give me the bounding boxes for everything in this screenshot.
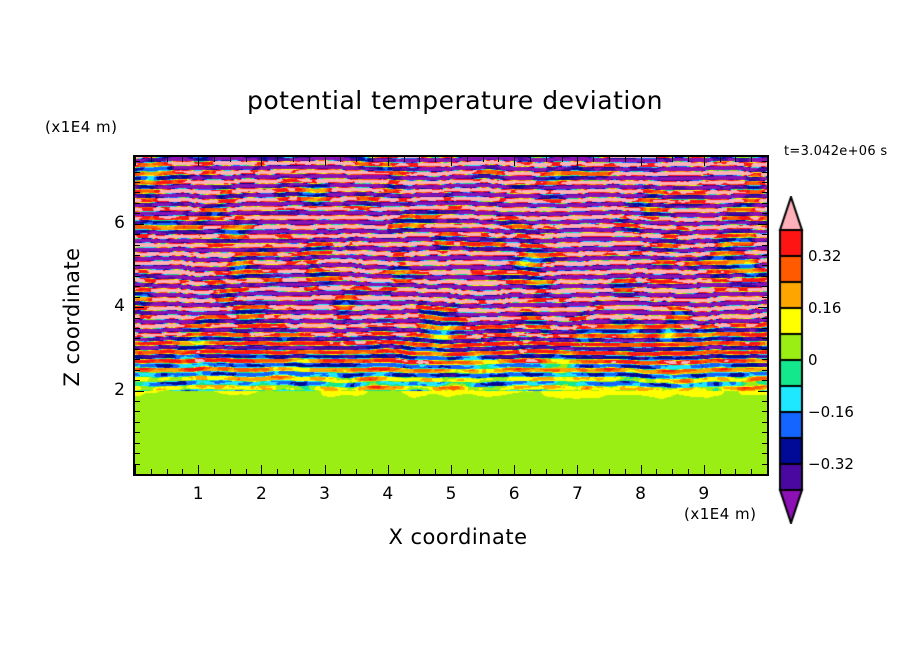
x-tick-bottom xyxy=(546,469,547,474)
y-tick-right xyxy=(762,245,767,246)
y-tick-label: 4 xyxy=(85,296,125,316)
x-tick-top xyxy=(483,157,484,162)
x-tick-bottom xyxy=(372,469,373,474)
x-axis-unit-label: (x1E4 m) xyxy=(684,505,757,523)
x-tick-top xyxy=(704,157,705,166)
y-tick-right xyxy=(762,338,767,339)
x-tick-bottom xyxy=(419,469,420,474)
y-tick-right xyxy=(762,297,767,298)
x-tick-bottom xyxy=(151,469,152,474)
y-tick-left xyxy=(135,192,140,193)
y-tick-right xyxy=(762,370,767,371)
x-axis-title: X coordinate xyxy=(248,525,668,549)
y-tick-right xyxy=(762,453,767,454)
y-tick-left xyxy=(135,328,140,329)
colorbar-tick-label: −0.16 xyxy=(808,403,854,421)
x-tick-top xyxy=(451,157,452,166)
y-tick-right xyxy=(762,192,767,193)
x-tick-label: 8 xyxy=(621,484,661,504)
y-tick-left xyxy=(135,318,140,319)
y-tick-right xyxy=(762,182,767,183)
y-tick-right xyxy=(762,234,767,235)
x-tick-top xyxy=(467,157,468,162)
x-tick-bottom xyxy=(577,465,578,474)
x-tick-top xyxy=(672,157,673,162)
y-tick-right xyxy=(762,359,767,360)
x-tick-bottom xyxy=(562,469,563,474)
y-tick-right xyxy=(762,328,767,329)
x-tick-bottom xyxy=(514,465,515,474)
y-tick-left xyxy=(135,307,144,308)
colorbar: 0.320.160−0.16−0.32 xyxy=(776,196,816,524)
x-tick-top xyxy=(751,157,752,162)
y-tick-right xyxy=(762,422,767,423)
y-tick-left xyxy=(135,338,140,339)
y-tick-right xyxy=(762,380,767,381)
y-tick-left xyxy=(135,182,140,183)
x-tick-top xyxy=(372,157,373,162)
y-tick-right xyxy=(762,443,767,444)
x-tick-bottom xyxy=(530,469,531,474)
y-tick-right xyxy=(758,474,767,475)
x-tick-bottom xyxy=(167,469,168,474)
figure-root: potential temperature deviation (x1E4 m)… xyxy=(0,0,904,654)
timestamp-annotation: t=3.042e+06 s xyxy=(784,144,887,159)
x-tick-bottom xyxy=(404,469,405,474)
x-tick-bottom xyxy=(720,469,721,474)
y-tick-right xyxy=(758,224,767,225)
x-tick-bottom xyxy=(230,469,231,474)
y-tick-right xyxy=(762,213,767,214)
x-tick-label: 4 xyxy=(368,484,408,504)
x-tick-label: 9 xyxy=(684,484,724,504)
x-tick-top xyxy=(230,157,231,162)
y-tick-left xyxy=(135,359,140,360)
x-tick-label: 6 xyxy=(494,484,534,504)
colorbar-tick-label: 0.32 xyxy=(808,247,841,265)
x-tick-top xyxy=(198,157,199,166)
y-tick-right xyxy=(762,203,767,204)
x-tick-top xyxy=(735,157,736,162)
x-tick-bottom xyxy=(767,465,768,474)
x-tick-label: 7 xyxy=(557,484,597,504)
y-tick-left xyxy=(135,474,144,475)
x-tick-label: 1 xyxy=(178,484,218,504)
x-tick-label: 3 xyxy=(305,484,345,504)
y-tick-left xyxy=(135,161,140,162)
y-tick-left xyxy=(135,245,140,246)
colorbar-tick-label: 0.16 xyxy=(808,299,841,317)
x-tick-top xyxy=(325,157,326,166)
colorbar-tick-label: −0.32 xyxy=(808,455,854,473)
x-tick-top xyxy=(720,157,721,162)
x-tick-top xyxy=(167,157,168,162)
contour-plot-area xyxy=(133,155,769,476)
x-tick-top xyxy=(340,157,341,162)
x-tick-top xyxy=(641,157,642,166)
y-axis-title: Z coordinate xyxy=(60,207,84,427)
x-tick-top xyxy=(593,157,594,162)
x-tick-top xyxy=(388,157,389,166)
x-tick-top xyxy=(419,157,420,162)
y-tick-left xyxy=(135,422,140,423)
x-tick-top xyxy=(498,157,499,162)
y-tick-right xyxy=(762,464,767,465)
x-tick-top xyxy=(656,157,657,162)
y-tick-left xyxy=(135,276,140,277)
x-tick-top xyxy=(435,157,436,162)
x-tick-top xyxy=(277,157,278,162)
y-tick-left xyxy=(135,443,140,444)
page-title: potential temperature deviation xyxy=(75,86,835,115)
y-tick-right xyxy=(762,276,767,277)
x-tick-top xyxy=(577,157,578,166)
x-tick-top xyxy=(309,157,310,162)
y-tick-left xyxy=(135,297,140,298)
x-tick-bottom xyxy=(435,469,436,474)
y-tick-right xyxy=(758,307,767,308)
x-tick-bottom xyxy=(672,469,673,474)
x-tick-top xyxy=(246,157,247,162)
y-tick-left xyxy=(135,432,140,433)
x-tick-top xyxy=(293,157,294,162)
x-tick-bottom xyxy=(135,465,136,474)
x-tick-bottom xyxy=(214,469,215,474)
x-tick-top xyxy=(214,157,215,162)
y-tick-right xyxy=(762,255,767,256)
x-tick-bottom xyxy=(198,465,199,474)
y-tick-left xyxy=(135,349,140,350)
y-tick-left xyxy=(135,255,140,256)
x-tick-top xyxy=(356,157,357,162)
x-tick-bottom xyxy=(182,469,183,474)
y-tick-right xyxy=(762,161,767,162)
x-tick-bottom xyxy=(451,465,452,474)
y-tick-left xyxy=(135,370,140,371)
x-tick-bottom xyxy=(467,469,468,474)
y-axis-unit-label: (x1E4 m) xyxy=(45,118,118,136)
y-tick-left xyxy=(135,203,140,204)
y-tick-left xyxy=(135,213,140,214)
y-tick-right xyxy=(762,432,767,433)
colorbar-tick-label: 0 xyxy=(808,351,818,369)
y-tick-right xyxy=(762,265,767,266)
x-tick-bottom xyxy=(641,465,642,474)
y-tick-right xyxy=(758,391,767,392)
x-tick-top xyxy=(562,157,563,162)
x-tick-bottom xyxy=(704,465,705,474)
y-tick-left xyxy=(135,286,140,287)
y-tick-left xyxy=(135,224,144,225)
y-tick-left xyxy=(135,411,140,412)
y-tick-left xyxy=(135,401,140,402)
x-tick-bottom xyxy=(277,469,278,474)
x-tick-label: 5 xyxy=(431,484,471,504)
x-tick-top xyxy=(767,157,768,166)
x-tick-bottom xyxy=(656,469,657,474)
x-tick-label: 2 xyxy=(241,484,281,504)
x-tick-top xyxy=(182,157,183,162)
y-tick-left xyxy=(135,380,140,381)
y-tick-label: 6 xyxy=(85,213,125,233)
x-tick-bottom xyxy=(688,469,689,474)
x-tick-bottom xyxy=(356,469,357,474)
y-tick-left xyxy=(135,453,140,454)
x-tick-bottom xyxy=(609,469,610,474)
y-tick-label: 2 xyxy=(85,380,125,400)
y-tick-right xyxy=(762,411,767,412)
x-tick-bottom xyxy=(388,465,389,474)
x-tick-top xyxy=(688,157,689,162)
x-tick-top xyxy=(625,157,626,162)
x-tick-top xyxy=(151,157,152,162)
x-tick-bottom xyxy=(498,469,499,474)
contour-field-canvas xyxy=(135,157,767,474)
x-tick-bottom xyxy=(261,465,262,474)
y-tick-right xyxy=(762,286,767,287)
x-tick-bottom xyxy=(325,465,326,474)
x-tick-top xyxy=(530,157,531,162)
x-tick-top xyxy=(261,157,262,166)
y-tick-left xyxy=(135,391,144,392)
x-tick-top xyxy=(404,157,405,162)
y-tick-left xyxy=(135,172,140,173)
x-tick-top xyxy=(546,157,547,162)
y-tick-right xyxy=(762,172,767,173)
y-tick-right xyxy=(762,318,767,319)
x-tick-bottom xyxy=(751,469,752,474)
y-tick-left xyxy=(135,265,140,266)
x-tick-bottom xyxy=(625,469,626,474)
y-tick-right xyxy=(762,401,767,402)
x-tick-bottom xyxy=(593,469,594,474)
x-tick-bottom xyxy=(293,469,294,474)
y-tick-left xyxy=(135,464,140,465)
x-tick-top xyxy=(609,157,610,162)
x-tick-bottom xyxy=(483,469,484,474)
x-tick-bottom xyxy=(246,469,247,474)
x-tick-bottom xyxy=(735,469,736,474)
x-tick-top xyxy=(514,157,515,166)
x-tick-bottom xyxy=(340,469,341,474)
y-tick-left xyxy=(135,234,140,235)
y-tick-right xyxy=(762,349,767,350)
x-tick-bottom xyxy=(309,469,310,474)
